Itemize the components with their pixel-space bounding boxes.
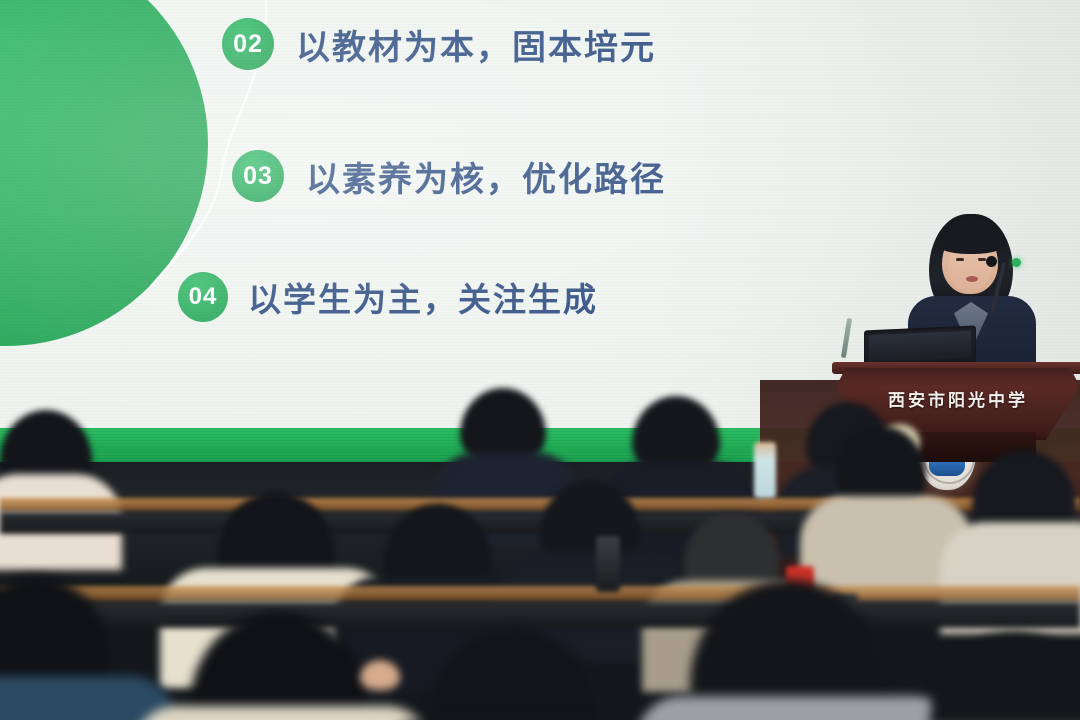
audience-seating — [0, 380, 1080, 720]
speaker-eye-right — [978, 258, 986, 261]
bullet-number-04: 04 — [178, 272, 228, 322]
audience-shoulders-hoodie — [636, 696, 960, 720]
bullet-number-03: 03 — [232, 150, 284, 202]
slide-bullet-03: 03 以素养为核，优化路径 — [232, 150, 666, 202]
bullet-text-03: 以素养为核，优化路径 — [306, 152, 666, 201]
title-line-3: 万变 — [0, 165, 208, 207]
audience-hand — [360, 660, 400, 690]
bullet-text-04: 以学生为主，关注生成 — [248, 273, 598, 321]
title-line-1: 日初心 — [0, 81, 208, 123]
speaker-mouth — [966, 276, 978, 282]
microphone-head-icon — [986, 256, 997, 267]
pointer-pen — [841, 318, 852, 358]
title-line-2: 素养”应 — [0, 123, 208, 165]
speaker-eye-left — [956, 258, 964, 261]
seat-row — [0, 602, 1080, 628]
microphone-indicator-light — [1012, 258, 1021, 267]
bullet-number-02: 02 — [222, 18, 274, 70]
presentation-photo: 日初心 素养”应 万变 02 以教材为本，固本培元 03 以素养为核，优化路径 … — [0, 0, 1080, 720]
desk-row — [0, 586, 1080, 602]
water-bottle-clear — [754, 442, 776, 498]
thermos-black — [596, 536, 620, 592]
slide-bullet-02: 02 以教材为本，固本培元 — [222, 18, 656, 70]
slide-bullet-04: 04 以学生为主，关注生成 — [178, 272, 598, 322]
slide-title-circle: 日初心 素养”应 万变 — [0, 0, 208, 346]
bullet-text-02: 以教材为本，固本培元 — [296, 20, 656, 69]
audience-head — [930, 632, 1080, 720]
audience-shoulders — [0, 676, 176, 720]
audience-shoulders — [132, 706, 432, 720]
